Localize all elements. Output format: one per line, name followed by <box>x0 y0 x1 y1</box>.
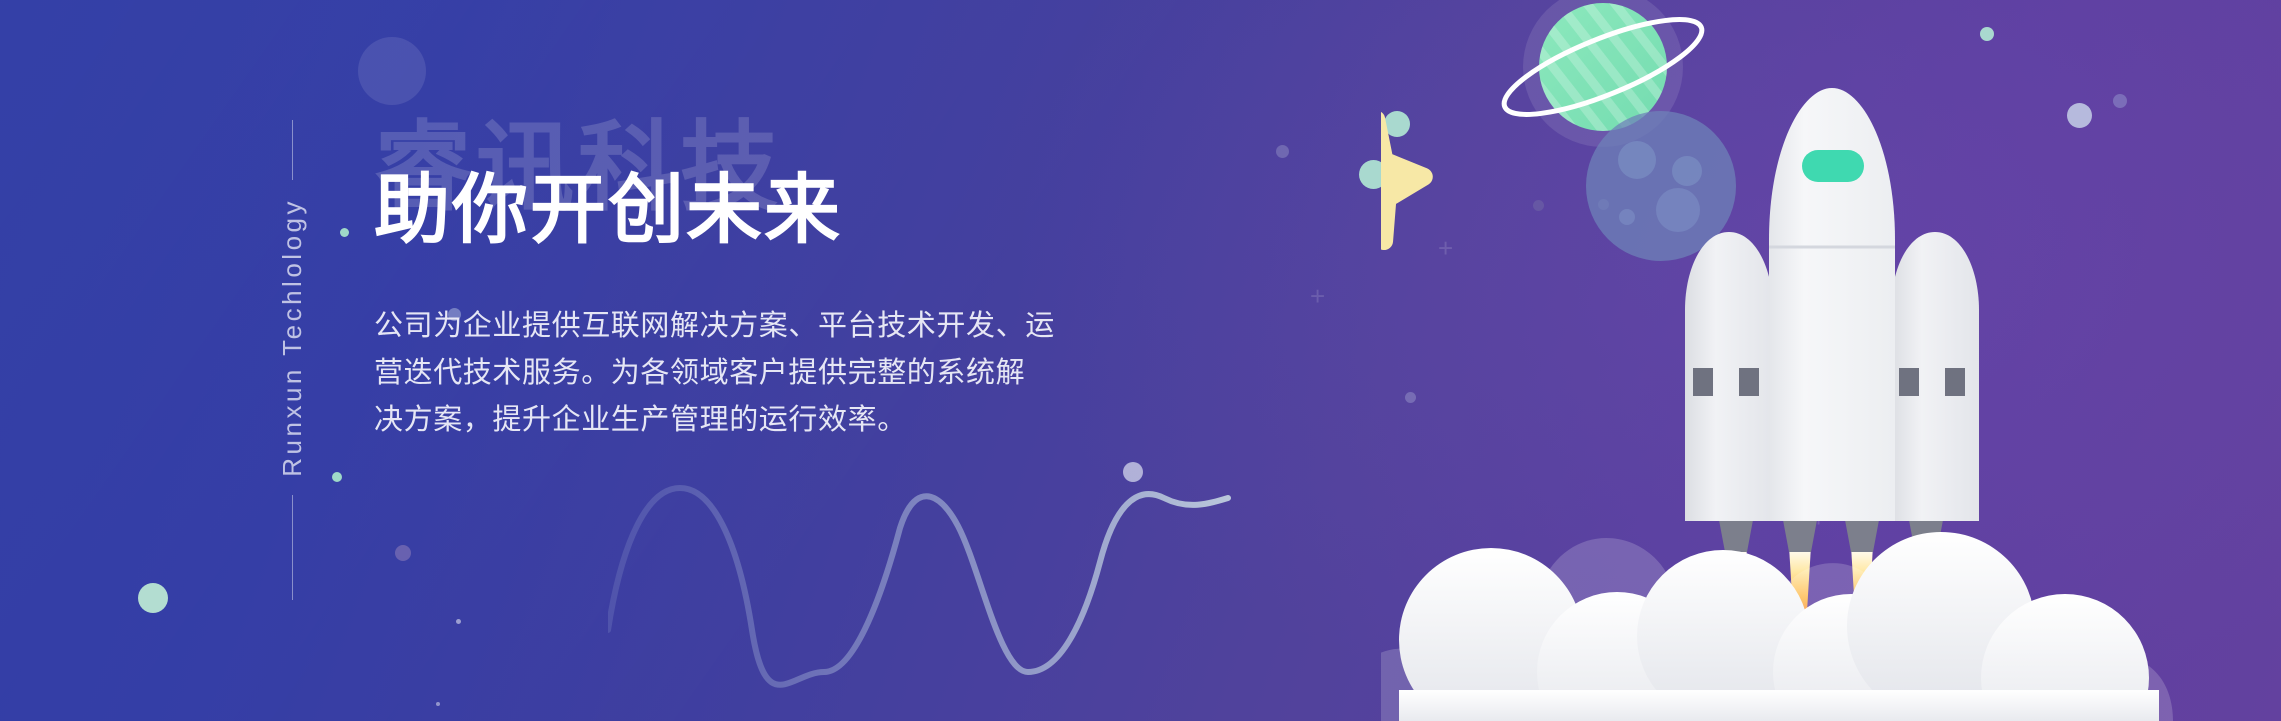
star-icon <box>1381 105 1434 247</box>
rocket-booster-right <box>1891 232 1979 521</box>
moon-crater-b <box>1672 156 1702 186</box>
hero-banner: + + + + + + Runxun Techlology 睿讯科技 助你开创未… <box>0 0 2281 721</box>
decor-dot-micro-a <box>456 619 461 624</box>
decor-dot-violet <box>395 545 411 561</box>
booster-left-vent-b <box>1739 368 1759 396</box>
description-line-2: 营迭代技术服务。为各领域客户提供完整的系统解 <box>374 350 1154 397</box>
decor-dot-slate-mid <box>1276 145 1289 158</box>
decor-dot-mint-large-bottomleft <box>138 583 168 613</box>
nozzle-2 <box>1783 520 1817 552</box>
booster-right-vent-a <box>1899 368 1919 396</box>
decor-sparkle-b: + <box>1310 283 1325 309</box>
cloud-base <box>1399 690 2159 721</box>
star-shape <box>1381 105 1434 247</box>
decor-dot-large-blue <box>358 37 426 105</box>
booster-left-vent-a <box>1693 368 1713 396</box>
moon-crater-c <box>1656 188 1700 232</box>
description-text: 公司为企业提供互联网解决方案、平台技术开发、运 营迭代技术服务。为各领域客户提供… <box>374 303 1154 444</box>
space-illustration <box>1381 0 2281 721</box>
page-title: 助你开创未来 <box>374 170 1194 252</box>
decor-dot-mint-tiny-left <box>332 472 342 482</box>
nozzle-3 <box>1845 520 1879 552</box>
copy-block: 睿讯科技 助你开创未来 公司为企业提供互联网解决方案、平台技术开发、运 营迭代技… <box>374 118 1194 444</box>
vertical-brand-text: Runxun Techlology <box>277 180 308 495</box>
decor-dot-mint-small <box>340 228 349 237</box>
moon-crater-d <box>1619 209 1635 225</box>
sine-wave-icon <box>608 470 1248 690</box>
vertical-brand: Runxun Techlology <box>262 120 322 600</box>
brand-rule-top <box>292 120 293 180</box>
brand-rule-bottom <box>292 495 293 600</box>
rocket-booster-left <box>1685 232 1773 521</box>
nozzle-1 <box>1719 520 1753 552</box>
description-line-3: 决方案，提升企业生产管理的运行效率。 <box>374 397 1154 444</box>
booster-right-vent-b <box>1945 368 1965 396</box>
moon-crater-a <box>1618 141 1656 179</box>
description-line-1: 公司为企业提供互联网解决方案、平台技术开发、运 <box>374 303 1154 350</box>
rocket-window <box>1802 150 1864 182</box>
decor-dot-micro-b <box>436 702 440 706</box>
smoke-clouds-icon <box>1381 532 2173 721</box>
